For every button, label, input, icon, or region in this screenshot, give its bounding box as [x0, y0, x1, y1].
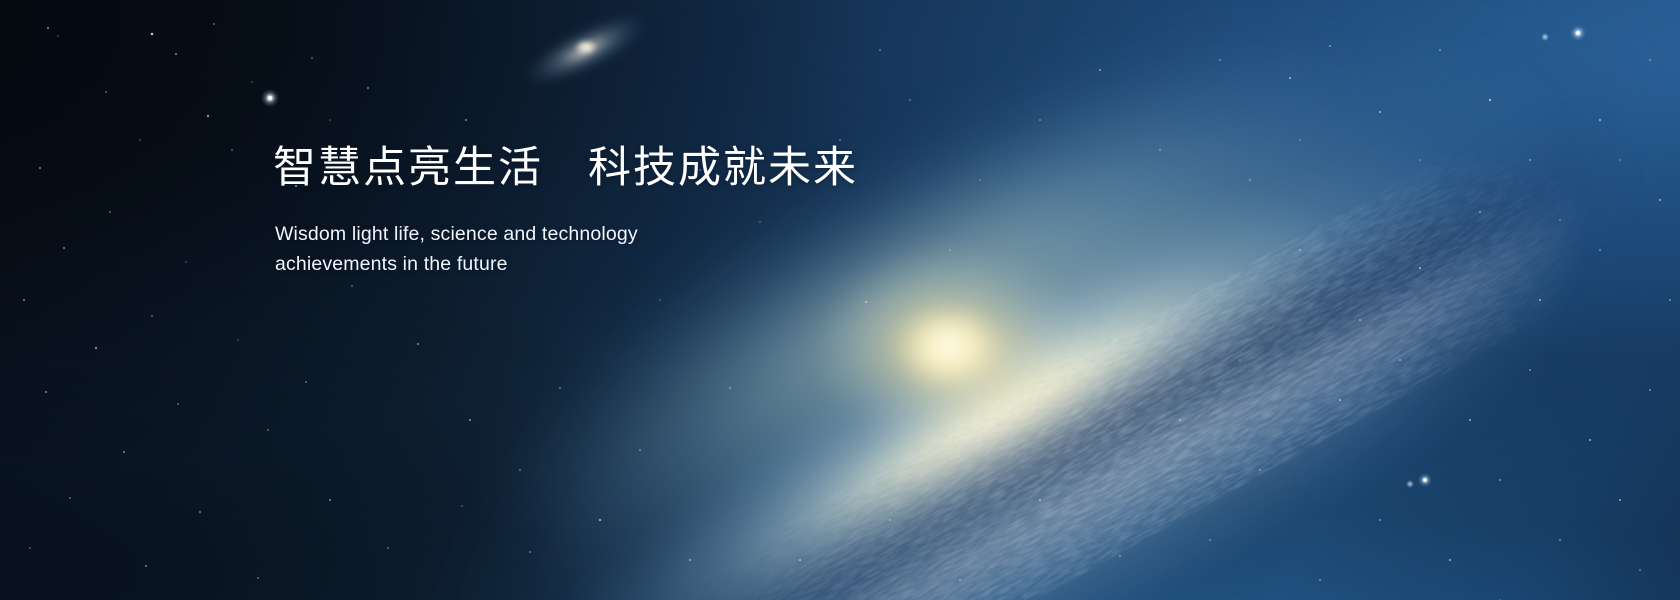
starfield — [0, 0, 1680, 600]
hero-banner: 智慧点亮生活 科技成就未来 Wisdom light life, science… — [0, 0, 1680, 600]
banner-subtitle-line-2: achievements in the future — [275, 249, 1033, 279]
banner-headline: 智慧点亮生活 科技成就未来 — [273, 140, 1033, 196]
banner-subtitle-line-1: Wisdom light life, science and technolog… — [275, 219, 1033, 249]
banner-copy: 智慧点亮生活 科技成就未来 Wisdom light life, science… — [273, 140, 1033, 279]
banner-subtitle: Wisdom light life, science and technolog… — [275, 219, 1033, 279]
